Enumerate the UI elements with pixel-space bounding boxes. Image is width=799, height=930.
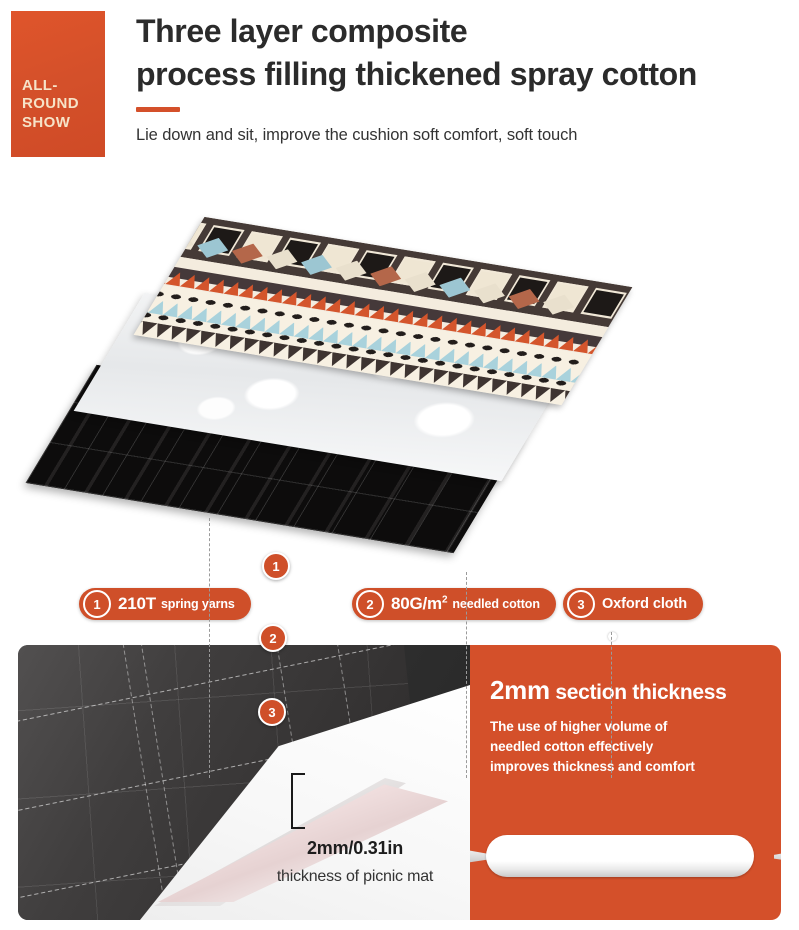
legend-item-spring-yarns: 1 210T spring yarns — [79, 588, 251, 620]
page-title-line-1: Three layer composite — [136, 13, 467, 49]
page-subtitle: Lie down and sit, improve the cushion so… — [136, 126, 796, 145]
photo-caption-thickness: 2mm/0.31in — [230, 838, 480, 859]
legend-number-3: 3 — [567, 590, 595, 618]
thickness-info-panel: 2mm section thickness The use of higher … — [470, 645, 781, 920]
connector-line-2 — [466, 572, 467, 778]
panel-description: The use of higher volume of needled cott… — [490, 717, 710, 777]
panel-title-text: section thickness — [555, 681, 726, 704]
highlight-dot — [608, 632, 617, 641]
page-title-line-2: process filling thickened spray cotton — [136, 53, 796, 96]
layer-marker-2: 2 — [259, 624, 287, 652]
connector-line-1 — [209, 518, 210, 778]
legend-superscript-2: 2 — [442, 594, 447, 605]
connector-line-3 — [611, 632, 612, 778]
brand-badge-label: ALL- ROUND SHOW — [8, 77, 79, 160]
page-title: Three layer composite process filling th… — [136, 10, 796, 95]
legend-value-1: 210T — [118, 594, 156, 614]
cross-section-body — [486, 835, 754, 877]
brand-badge: ALL- ROUND SHOW — [8, 8, 108, 160]
cross-section-graphic — [470, 823, 781, 889]
cross-section-tip-right — [774, 845, 781, 867]
layer-diagram: 1 2 3 — [0, 200, 799, 630]
layer-legend: 1 210T spring yarns 2 80G/m2 needled cot… — [0, 580, 799, 628]
legend-number-2: 2 — [356, 590, 384, 618]
layer-marker-3: 3 — [258, 698, 286, 726]
thickness-measure-bracket — [291, 773, 305, 829]
layer-marker-1: 1 — [262, 552, 290, 580]
legend-item-oxford-cloth: 3 Oxford cloth — [563, 588, 703, 620]
legend-value-2: 80G/m2 — [391, 594, 447, 614]
legend-label-3: Oxford cloth — [602, 596, 687, 612]
photo-caption-description: thickness of picnic mat — [230, 868, 480, 886]
title-divider — [136, 107, 180, 112]
legend-label-1: spring yarns — [161, 597, 235, 611]
legend-number-1: 1 — [83, 590, 111, 618]
panel-title-value: 2mm — [490, 675, 550, 705]
legend-item-needled-cotton: 2 80G/m2 needled cotton — [352, 588, 556, 620]
panel-title: 2mm section thickness — [490, 675, 770, 706]
header-section: ALL- ROUND SHOW Three layer composite pr… — [0, 0, 799, 180]
